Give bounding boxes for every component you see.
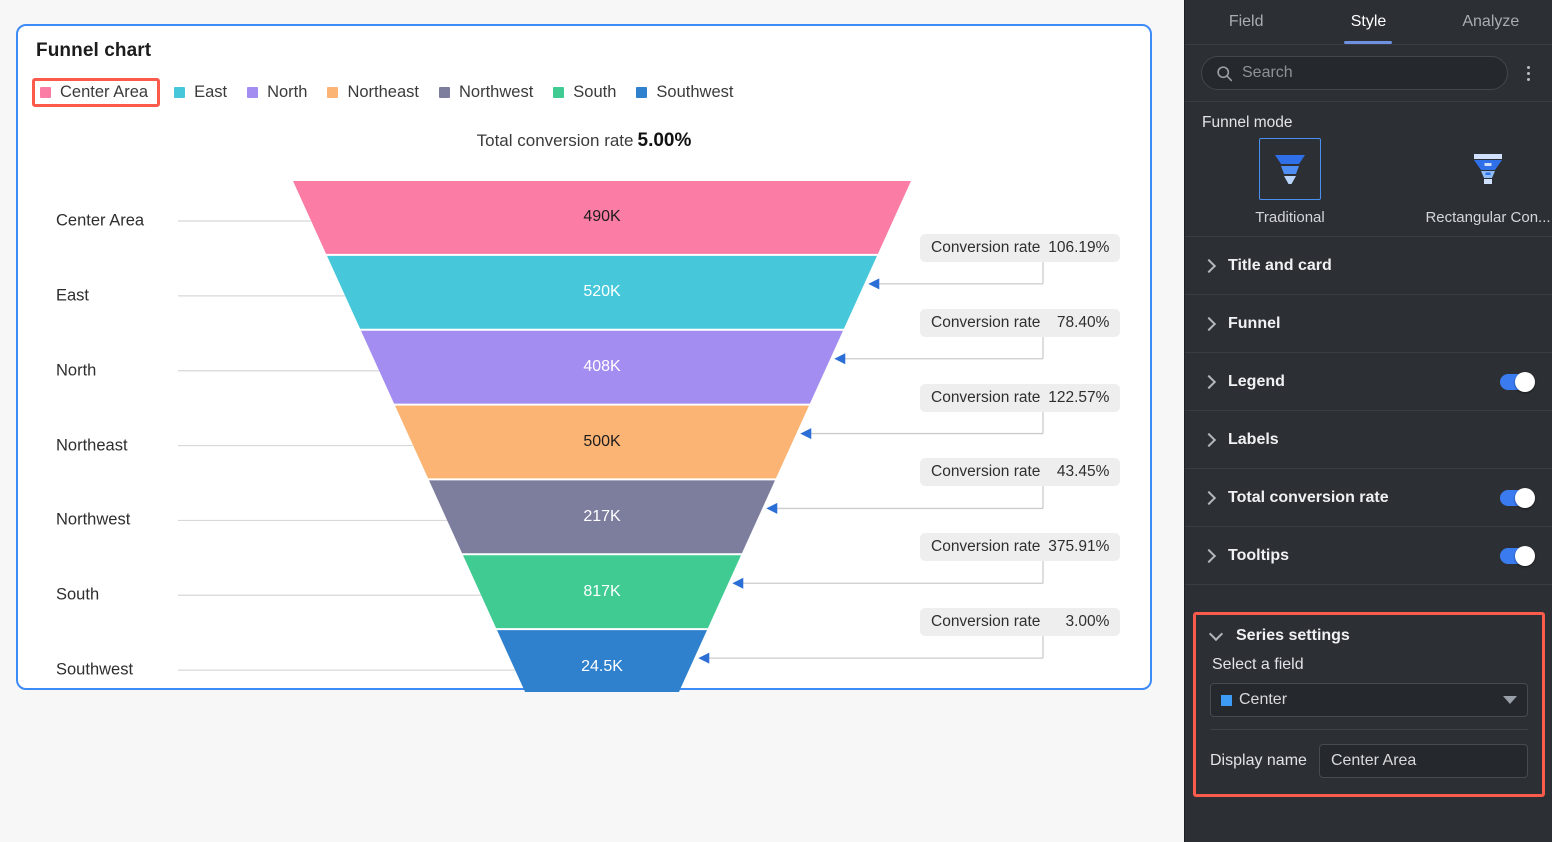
conversion-rate-arrow-icon [732, 578, 743, 589]
section-label: Labels [1228, 431, 1534, 449]
chevron-right-icon [1202, 549, 1216, 563]
conversion-rate-chip: Conversion rate375.91% [920, 533, 1120, 561]
chevron-down-icon [1210, 629, 1224, 643]
funnel-category-label: Northeast [56, 436, 128, 455]
chevron-right-icon [1202, 433, 1216, 447]
chart-pane: Funnel chart Center AreaEastNorthNorthea… [0, 0, 1184, 842]
conversion-rate-chip-value: 3.00% [1047, 613, 1109, 631]
section-tooltips[interactable]: Tooltips [1185, 527, 1552, 585]
funnel-svg [18, 26, 1154, 692]
conversion-rate-chip-value: 106.19% [1047, 239, 1109, 257]
funnel-segment-center-area[interactable] [293, 181, 911, 254]
toggle-switch[interactable] [1500, 548, 1534, 564]
field-color-swatch [1221, 695, 1232, 706]
search-row: Search [1185, 45, 1552, 102]
funnel-segment-east[interactable] [327, 256, 877, 329]
conversion-rate-chip-value: 78.40% [1047, 314, 1109, 332]
chevron-right-icon [1202, 491, 1216, 505]
conversion-rate-chip: Conversion rate3.00% [920, 608, 1120, 636]
style-sections: Title and cardFunnelLegendLabelsTotal co… [1185, 237, 1552, 585]
funnel-mode-rectangular[interactable]: Rectangular Con... [1428, 138, 1548, 226]
conversion-rate-arrow-icon [766, 503, 777, 514]
funnel-plot: 490KCenter Area520KEast408KNorth500KNort… [18, 26, 1150, 688]
funnel-mode-traditional[interactable]: Traditional [1230, 138, 1350, 226]
funnel-segment-northwest[interactable] [429, 480, 775, 553]
section-label: Total conversion rate [1228, 489, 1500, 507]
app-root: Funnel chart Center AreaEastNorthNorthea… [0, 0, 1552, 842]
conversion-rate-chip-label: Conversion rate [931, 613, 1040, 631]
chevron-right-icon [1202, 375, 1216, 389]
toggle-knob [1515, 372, 1535, 392]
conversion-rate-chip-label: Conversion rate [931, 314, 1040, 332]
chevron-right-icon [1202, 317, 1216, 331]
tab-label: Field [1229, 13, 1264, 31]
tab-label: Style [1351, 13, 1387, 31]
funnel-category-label: Southwest [56, 661, 133, 680]
tab-analyze[interactable]: Analyze [1430, 0, 1552, 44]
toggle-switch[interactable] [1500, 374, 1534, 390]
funnel-mode-section: Funnel mode Traditional [1185, 102, 1552, 237]
toggle-knob [1515, 488, 1535, 508]
section-total-conversion-rate[interactable]: Total conversion rate [1185, 469, 1552, 527]
funnel-traditional-icon [1270, 150, 1310, 188]
section-label: Tooltips [1228, 547, 1500, 565]
section-labels[interactable]: Labels [1185, 411, 1552, 469]
funnel-category-label: East [56, 286, 89, 305]
tab-label: Analyze [1462, 13, 1519, 31]
search-icon [1216, 65, 1233, 82]
funnel-mode-options: Traditional Rectangular Con... [1185, 138, 1552, 226]
funnel-category-label: North [56, 361, 96, 380]
conversion-rate-chip-label: Conversion rate [931, 463, 1040, 481]
conversion-rate-chip-label: Conversion rate [931, 538, 1040, 556]
funnel-traditional-icon-box [1259, 138, 1321, 200]
display-name-row: Display name Center Area [1210, 729, 1528, 778]
section-label: Funnel [1228, 315, 1534, 333]
field-select-dropdown[interactable]: Center [1210, 683, 1528, 717]
conversion-rate-chip-value: 122.57% [1047, 389, 1109, 407]
conversion-rate-chip-label: Conversion rate [931, 239, 1040, 257]
toggle-knob [1515, 546, 1535, 566]
conversion-rate-chip: Conversion rate43.45% [920, 458, 1120, 486]
kebab-menu-icon[interactable] [1518, 66, 1538, 81]
conversion-rate-chip: Conversion rate78.40% [920, 309, 1120, 337]
funnel-category-label: Center Area [56, 212, 144, 231]
funnel-mode-traditional-label: Traditional [1255, 209, 1324, 226]
section-title-and-card[interactable]: Title and card [1185, 237, 1552, 295]
section-legend[interactable]: Legend [1185, 353, 1552, 411]
conversion-rate-chip-value: 43.45% [1047, 463, 1109, 481]
field-select-value: Center [1239, 691, 1503, 709]
select-a-field-label: Select a field [1212, 656, 1528, 674]
chevron-right-icon [1202, 259, 1216, 273]
section-label: Legend [1228, 373, 1500, 391]
search-input[interactable]: Search [1201, 56, 1508, 90]
conversion-rate-chip-label: Conversion rate [931, 389, 1040, 407]
funnel-rectangular-icon-box [1457, 138, 1519, 200]
funnel-chart-card: Funnel chart Center AreaEastNorthNorthea… [16, 24, 1152, 690]
series-settings-section: Series settings Select a field Center Di… [1193, 612, 1545, 797]
funnel-mode-rectangular-label: Rectangular Con... [1425, 209, 1550, 226]
conversion-rate-chip: Conversion rate122.57% [920, 384, 1120, 412]
section-funnel[interactable]: Funnel [1185, 295, 1552, 353]
chevron-down-icon [1503, 696, 1517, 704]
tab-field[interactable]: Field [1185, 0, 1307, 44]
funnel-segment-northeast[interactable] [395, 406, 809, 479]
display-name-label: Display name [1210, 752, 1307, 770]
conversion-rate-chip-value: 375.91% [1047, 538, 1109, 556]
conversion-rate-chip: Conversion rate106.19% [920, 234, 1120, 262]
toggle-switch[interactable] [1500, 490, 1534, 506]
conversion-rate-arrow-icon [834, 353, 845, 364]
section-label: Title and card [1228, 257, 1534, 275]
style-panel: FieldStyleAnalyze Search Funnel mode [1184, 0, 1552, 842]
series-settings-title: Series settings [1236, 627, 1528, 645]
display-name-field[interactable]: Center Area [1319, 744, 1528, 778]
conversion-rate-arrow-icon [868, 278, 879, 289]
tab-style[interactable]: Style [1307, 0, 1429, 44]
funnel-category-label: South [56, 586, 99, 605]
funnel-rectangular-icon [1468, 150, 1508, 188]
funnel-segment-south[interactable] [463, 555, 741, 628]
conversion-rate-arrow-icon [800, 428, 811, 439]
funnel-mode-title: Funnel mode [1185, 114, 1552, 132]
search-placeholder: Search [1242, 64, 1293, 82]
panel-tabs: FieldStyleAnalyze [1185, 0, 1552, 45]
funnel-segment-southwest[interactable] [497, 630, 707, 692]
funnel-segment-north[interactable] [361, 331, 843, 404]
funnel-category-label: Northwest [56, 511, 130, 530]
conversion-rate-arrow-icon [698, 653, 709, 664]
series-settings-header[interactable]: Series settings [1210, 627, 1528, 645]
